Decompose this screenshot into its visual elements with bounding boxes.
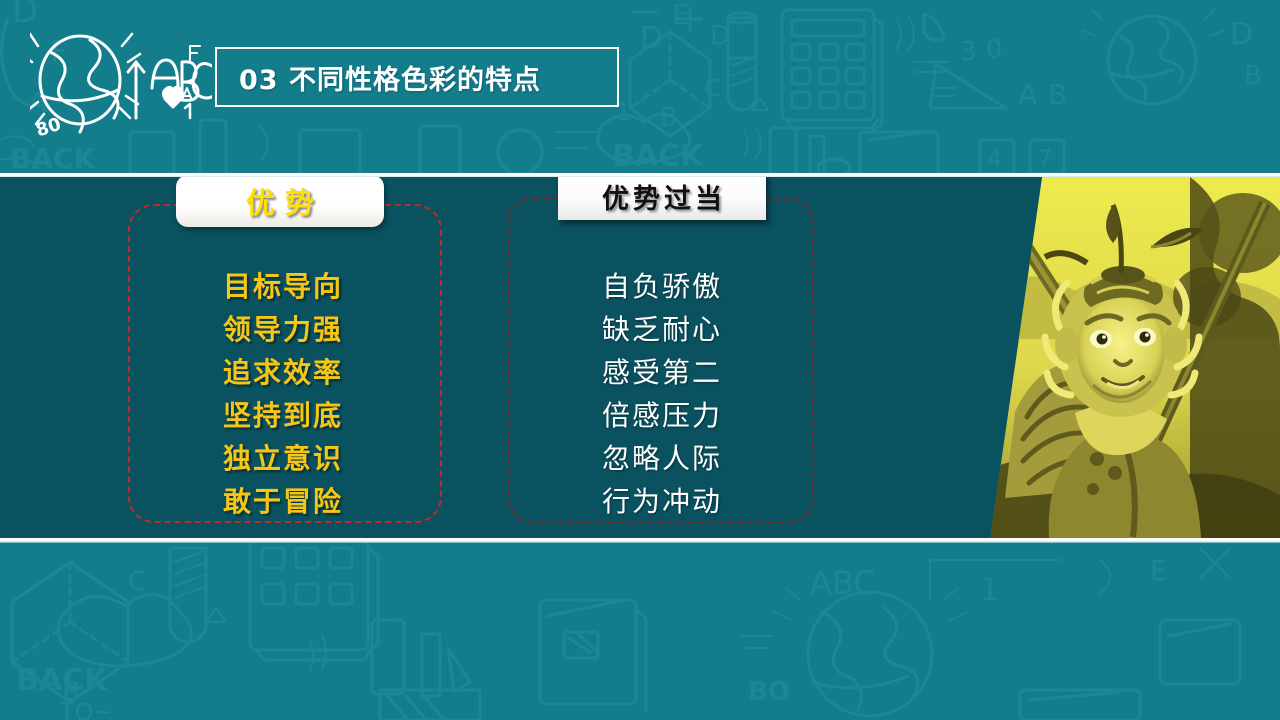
list-item: 敢于冒险 (223, 480, 343, 523)
slide-header: 80 03 不同性格色彩的特点 (0, 0, 1280, 175)
list-item: 自负骄傲 (602, 265, 722, 308)
slide-footer: 黄色 性格优势特征 头条 @职场文先生 广东龙网 (0, 542, 1280, 720)
globe-abc-doodle: 80 (30, 22, 212, 140)
list-item: 追求效率 (223, 351, 343, 394)
list-item: 领导力强 (223, 308, 343, 351)
list-item: 行为冲动 (602, 480, 722, 523)
slide-root: D F A D E D C B 1 (0, 0, 1280, 720)
list-item: 目标导向 (223, 265, 343, 308)
content-panel: 优势 目标导向 领导力强 追求效率 坚持到底 独立意识 敢于冒险 优势过当 自负… (0, 177, 1280, 538)
monkey-king-duotone-photo (975, 177, 1280, 538)
list-item: 坚持到底 (223, 394, 343, 437)
page-title: 03 不同性格色彩的特点 (217, 58, 541, 97)
advantages-list: 目标导向 领导力强 追求效率 坚持到底 独立意识 敢于冒险 (127, 265, 439, 523)
excess-tab-label: 优势过当 (598, 177, 726, 216)
advantages-tab[interactable]: 优势 (176, 177, 384, 227)
list-item: 感受第二 (602, 351, 722, 394)
excess-list: 自负骄傲 缺乏耐心 感受第二 倍感压力 忽略人际 行为冲动 (506, 265, 818, 523)
advantages-tab-label: 优势 (236, 180, 324, 222)
list-item: 独立意识 (223, 437, 343, 480)
list-item: 倍感压力 (602, 394, 722, 437)
section-title-box: 03 不同性格色彩的特点 (215, 47, 619, 107)
list-item: 缺乏耐心 (602, 308, 722, 351)
excess-tab[interactable]: 优势过当 (558, 177, 766, 220)
list-item: 忽略人际 (602, 437, 722, 480)
